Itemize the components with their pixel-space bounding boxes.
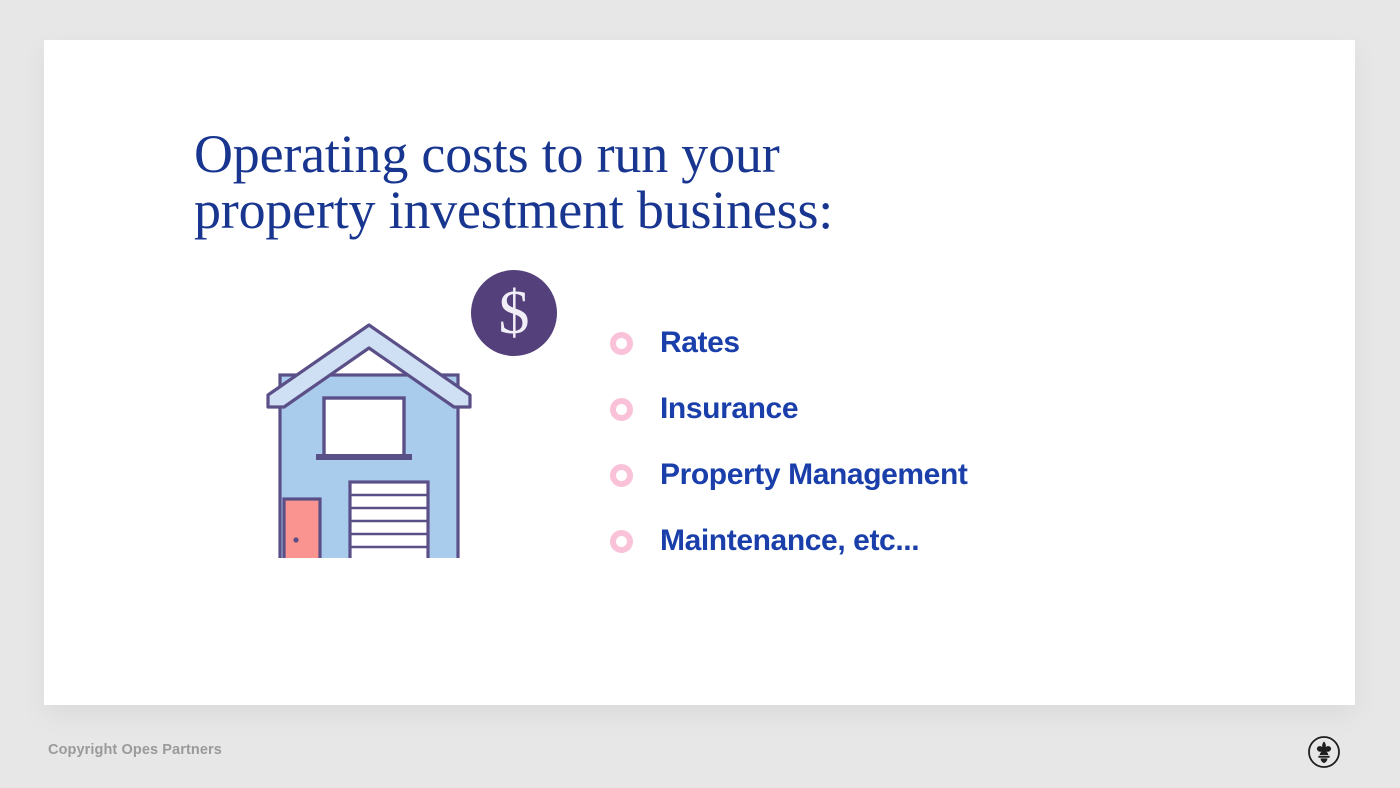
operating-costs-list: Rates Insurance Property Management Main…: [610, 310, 1250, 574]
house-window-sill: [316, 454, 412, 460]
house-door: [284, 499, 320, 558]
house-garage-group: [350, 482, 428, 558]
house-window-group: [316, 398, 412, 460]
fleur-de-lis-logo: [1307, 735, 1341, 769]
page-title: Operating costs to run your property inv…: [194, 126, 954, 238]
fleur-de-lis-glyph: [1317, 741, 1331, 763]
house-door-group: [284, 499, 320, 558]
list-item: Maintenance, etc...: [610, 508, 1250, 574]
house-illustration: $: [258, 268, 558, 558]
ring-bullet-icon: [610, 464, 633, 487]
ring-bullet-icon: [610, 398, 633, 421]
footer-copyright: Copyright Opes Partners: [48, 742, 222, 758]
page-title-line-1: Operating costs to run your: [194, 126, 954, 182]
house-door-handle: [293, 537, 298, 542]
ring-bullet-icon: [610, 332, 633, 355]
list-item: Rates: [610, 310, 1250, 376]
list-item-label: Property Management: [660, 458, 967, 492]
house-window: [324, 398, 404, 457]
dollar-sign-glyph: $: [499, 279, 530, 347]
list-item: Insurance: [610, 376, 1250, 442]
dollar-coin-icon: $: [471, 270, 557, 356]
page-title-line-2: property investment business:: [194, 182, 954, 238]
ring-bullet-icon: [610, 530, 633, 553]
list-item-label: Maintenance, etc...: [660, 524, 919, 558]
list-item-label: Rates: [660, 326, 740, 360]
list-item: Property Management: [610, 442, 1250, 508]
list-item-label: Insurance: [660, 392, 798, 426]
